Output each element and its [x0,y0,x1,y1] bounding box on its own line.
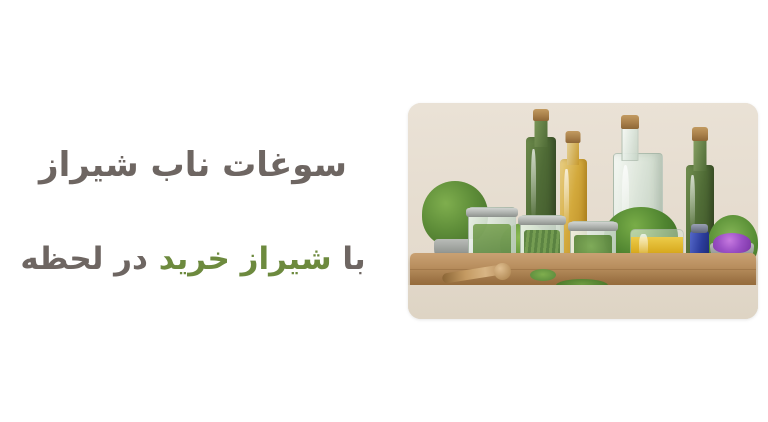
subline-accent-text: شیراز خرید [159,241,332,277]
banner-subline: با شیراز خرید در لحظه [10,244,376,275]
cork-stopper [621,115,639,129]
cork-stopper [692,127,708,141]
green-bottle-slim-neck [694,137,707,171]
cork-stopper [566,131,581,143]
jar-lid [518,216,566,225]
lavender-salt-heap [713,233,751,253]
cork-stopper [533,109,549,121]
subline-lead-text: با [332,241,366,277]
jar-lid [466,208,518,217]
clear-bottle-neck [622,125,639,161]
blue-vial-cap [691,224,708,233]
subline-tail-text: در لحظه [20,241,158,277]
illustration-area [398,0,768,422]
banner-copy: سوغات ناب شیراز با شیراز خرید در لحظه [0,148,398,275]
pestle-head [494,263,511,280]
promo-banner: سوغات ناب شیراز با شیراز خرید در لحظه [0,0,768,422]
glass-highlight [531,149,536,225]
green-bottle-neck [535,117,548,147]
banner-headline: سوغات ناب شیراز [10,148,376,182]
illustration-card [408,103,758,319]
counter-surface [408,285,758,319]
jar-lid [568,222,618,231]
scattered-leaves [530,269,556,281]
